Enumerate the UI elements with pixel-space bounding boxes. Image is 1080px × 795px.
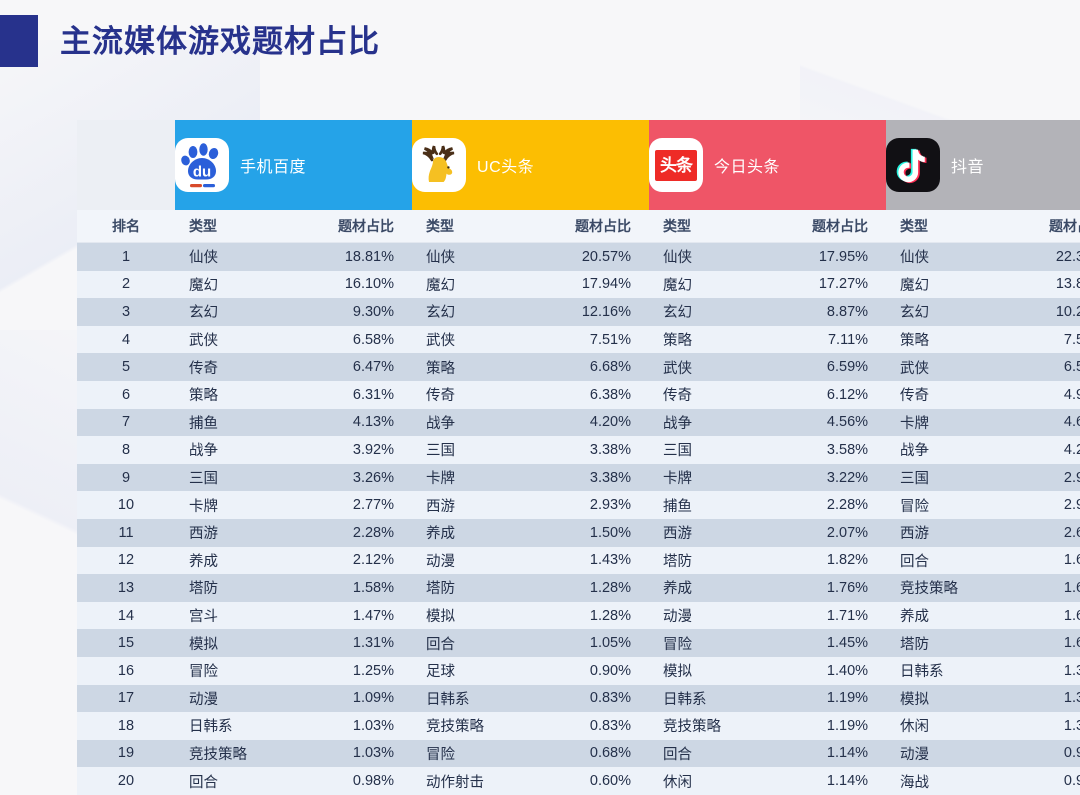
cell-pct-0: 1.31% xyxy=(285,629,412,657)
cell-type-0: 塔防 xyxy=(175,574,285,602)
cell-pct-0: 2.28% xyxy=(285,519,412,547)
cell-rank: 3 xyxy=(77,298,175,326)
cell-pct-3: 1.64% xyxy=(996,574,1080,602)
cell-type-1: 三国 xyxy=(412,436,522,464)
table-row: 9三国3.26%卡牌3.38%卡牌3.22%三国2.96% xyxy=(77,464,1080,492)
cell-pct-0: 6.47% xyxy=(285,353,412,381)
cell-pct-2: 1.82% xyxy=(759,547,886,575)
cell-pct-3: 6.58% xyxy=(996,353,1080,381)
cell-pct-3: 1.32% xyxy=(996,685,1080,713)
cell-type-2: 魔幻 xyxy=(649,271,759,299)
table-row: 5传奇6.47%策略6.68%武侠6.59%武侠6.58% xyxy=(77,353,1080,381)
cell-pct-1: 0.90% xyxy=(522,657,649,685)
cell-rank: 19 xyxy=(77,740,175,768)
cell-type-0: 模拟 xyxy=(175,629,285,657)
cell-pct-3: 1.32% xyxy=(996,712,1080,740)
cell-pct-3: 1.64% xyxy=(996,547,1080,575)
table-row: 6策略6.31%传奇6.38%传奇6.12%传奇4.93% xyxy=(77,381,1080,409)
cell-type-2: 竞技策略 xyxy=(649,712,759,740)
cell-pct-2: 8.87% xyxy=(759,298,886,326)
cell-type-3: 冒险 xyxy=(886,491,996,519)
cell-pct-0: 16.10% xyxy=(285,271,412,299)
cell-pct-1: 0.83% xyxy=(522,685,649,713)
cell-type-1: 日韩系 xyxy=(412,685,522,713)
cell-pct-0: 3.92% xyxy=(285,436,412,464)
cell-rank: 1 xyxy=(77,243,175,271)
cell-pct-3: 7.57% xyxy=(996,326,1080,354)
cell-pct-2: 1.71% xyxy=(759,602,886,630)
cell-pct-2: 6.12% xyxy=(759,381,886,409)
cell-type-3: 西游 xyxy=(886,519,996,547)
platform-header-1: UC头条 xyxy=(412,120,649,210)
cell-pct-2: 4.56% xyxy=(759,409,886,437)
cell-pct-0: 18.81% xyxy=(285,243,412,271)
cell-pct-1: 1.05% xyxy=(522,629,649,657)
cell-rank: 14 xyxy=(77,602,175,630)
cell-pct-2: 1.14% xyxy=(759,767,886,795)
cell-type-2: 养成 xyxy=(649,574,759,602)
cell-rank: 12 xyxy=(77,547,175,575)
cell-type-0: 养成 xyxy=(175,547,285,575)
cell-pct-0: 3.26% xyxy=(285,464,412,492)
cell-type-0: 卡牌 xyxy=(175,491,285,519)
cell-type-3: 战争 xyxy=(886,436,996,464)
cell-pct-2: 1.14% xyxy=(759,740,886,768)
table-row: 11西游2.28%养成1.50%西游2.07%西游2.63% xyxy=(77,519,1080,547)
cell-rank: 16 xyxy=(77,657,175,685)
cell-pct-0: 1.09% xyxy=(285,685,412,713)
cell-pct-1: 7.51% xyxy=(522,326,649,354)
cell-pct-1: 1.28% xyxy=(522,602,649,630)
brand-header-row: du手机百度UC头条头条今日头条抖音 xyxy=(77,120,1080,210)
cell-pct-1: 0.60% xyxy=(522,767,649,795)
platform-name-label: 今日头条 xyxy=(714,153,780,177)
cell-type-2: 卡牌 xyxy=(649,464,759,492)
cell-type-0: 策略 xyxy=(175,381,285,409)
cell-type-3: 动漫 xyxy=(886,740,996,768)
cell-pct-3: 2.96% xyxy=(996,464,1080,492)
table-row: 16冒险1.25%足球0.90%模拟1.40%日韩系1.32% xyxy=(77,657,1080,685)
cell-type-1: 模拟 xyxy=(412,602,522,630)
table-row: 18日韩系1.03%竞技策略0.83%竞技策略1.19%休闲1.32% xyxy=(77,712,1080,740)
cell-pct-0: 1.47% xyxy=(285,602,412,630)
cell-rank: 18 xyxy=(77,712,175,740)
cell-pct-0: 6.58% xyxy=(285,326,412,354)
cell-type-0: 西游 xyxy=(175,519,285,547)
cell-pct-2: 3.58% xyxy=(759,436,886,464)
cell-type-1: 武侠 xyxy=(412,326,522,354)
cell-rank: 7 xyxy=(77,409,175,437)
table-row: 14宫斗1.47%模拟1.28%动漫1.71%养成1.64% xyxy=(77,602,1080,630)
cell-pct-0: 1.25% xyxy=(285,657,412,685)
cell-type-3: 模拟 xyxy=(886,685,996,713)
cell-pct-3: 0.99% xyxy=(996,767,1080,795)
column-header-pct-1: 题材占比 xyxy=(522,210,649,243)
cell-type-0: 日韩系 xyxy=(175,712,285,740)
toutiao-icon: 头条 xyxy=(649,138,703,192)
rank-header-blank xyxy=(77,120,175,210)
platform-name-label: 抖音 xyxy=(951,153,984,177)
cell-rank: 5 xyxy=(77,353,175,381)
cell-type-0: 传奇 xyxy=(175,353,285,381)
cell-pct-3: 1.32% xyxy=(996,657,1080,685)
cell-pct-3: 4.93% xyxy=(996,381,1080,409)
cell-pct-3: 4.61% xyxy=(996,409,1080,437)
cell-type-3: 策略 xyxy=(886,326,996,354)
column-header-pct-0: 题材占比 xyxy=(285,210,412,243)
column-header-type-2: 类型 xyxy=(649,210,759,243)
cell-rank: 15 xyxy=(77,629,175,657)
cell-type-2: 策略 xyxy=(649,326,759,354)
cell-pct-1: 0.68% xyxy=(522,740,649,768)
cell-type-1: 玄幻 xyxy=(412,298,522,326)
platform-header-2: 头条今日头条 xyxy=(649,120,886,210)
cell-type-2: 武侠 xyxy=(649,353,759,381)
douyin-note-icon xyxy=(886,138,940,192)
cell-type-2: 日韩系 xyxy=(649,685,759,713)
cell-pct-1: 1.50% xyxy=(522,519,649,547)
cell-type-3: 传奇 xyxy=(886,381,996,409)
cell-pct-3: 13.82% xyxy=(996,271,1080,299)
cell-type-1: 动漫 xyxy=(412,547,522,575)
ranking-table-container: du手机百度UC头条头条今日头条抖音排名类型题材占比类型题材占比类型题材占比类型… xyxy=(77,120,1023,795)
cell-type-1: 战争 xyxy=(412,409,522,437)
cell-pct-0: 4.13% xyxy=(285,409,412,437)
cell-pct-0: 1.03% xyxy=(285,712,412,740)
cell-type-2: 传奇 xyxy=(649,381,759,409)
cell-rank: 13 xyxy=(77,574,175,602)
cell-type-1: 策略 xyxy=(412,353,522,381)
cell-type-0: 三国 xyxy=(175,464,285,492)
cell-type-3: 养成 xyxy=(886,602,996,630)
cell-type-1: 魔幻 xyxy=(412,271,522,299)
cell-pct-2: 17.95% xyxy=(759,243,886,271)
cell-pct-3: 2.96% xyxy=(996,491,1080,519)
column-header-pct-2: 题材占比 xyxy=(759,210,886,243)
cell-type-2: 塔防 xyxy=(649,547,759,575)
cell-type-3: 三国 xyxy=(886,464,996,492)
cell-type-2: 动漫 xyxy=(649,602,759,630)
column-header-type-1: 类型 xyxy=(412,210,522,243)
cell-type-1: 足球 xyxy=(412,657,522,685)
svg-text:du: du xyxy=(193,164,211,181)
cell-type-0: 魔幻 xyxy=(175,271,285,299)
cell-pct-0: 6.31% xyxy=(285,381,412,409)
table-row: 8战争3.92%三国3.38%三国3.58%战争4.28% xyxy=(77,436,1080,464)
cell-type-3: 日韩系 xyxy=(886,657,996,685)
cell-type-1: 养成 xyxy=(412,519,522,547)
cell-type-0: 捕鱼 xyxy=(175,409,285,437)
cell-type-1: 竞技策略 xyxy=(412,712,522,740)
cell-pct-2: 1.76% xyxy=(759,574,886,602)
cell-pct-2: 6.59% xyxy=(759,353,886,381)
cell-pct-2: 2.07% xyxy=(759,519,886,547)
cell-rank: 6 xyxy=(77,381,175,409)
cell-type-3: 玄幻 xyxy=(886,298,996,326)
cell-pct-1: 17.94% xyxy=(522,271,649,299)
cell-type-3: 魔幻 xyxy=(886,271,996,299)
cell-rank: 2 xyxy=(77,271,175,299)
table-row: 1仙侠18.81%仙侠20.57%仙侠17.95%仙侠22.37% xyxy=(77,243,1080,271)
page-title-row: 主流媒体游戏题材占比 xyxy=(0,12,380,70)
table-row: 12养成2.12%动漫1.43%塔防1.82%回合1.64% xyxy=(77,547,1080,575)
cell-pct-1: 4.20% xyxy=(522,409,649,437)
column-header-rank: 排名 xyxy=(77,210,175,243)
cell-pct-2: 17.27% xyxy=(759,271,886,299)
table-row: 10卡牌2.77%西游2.93%捕鱼2.28%冒险2.96% xyxy=(77,491,1080,519)
table-row: 13塔防1.58%塔防1.28%养成1.76%竞技策略1.64% xyxy=(77,574,1080,602)
cell-pct-2: 3.22% xyxy=(759,464,886,492)
cell-type-0: 动漫 xyxy=(175,685,285,713)
ranking-table: du手机百度UC头条头条今日头条抖音排名类型题材占比类型题材占比类型题材占比类型… xyxy=(77,120,1080,795)
baidu-paw-icon: du xyxy=(175,138,229,192)
cell-pct-1: 2.93% xyxy=(522,491,649,519)
cell-pct-2: 1.19% xyxy=(759,685,886,713)
cell-type-2: 玄幻 xyxy=(649,298,759,326)
cell-pct-0: 1.58% xyxy=(285,574,412,602)
platform-header-3: 抖音 xyxy=(886,120,1080,210)
cell-type-3: 休闲 xyxy=(886,712,996,740)
column-header-row: 排名类型题材占比类型题材占比类型题材占比类型题材占比 xyxy=(77,210,1080,243)
cell-type-1: 仙侠 xyxy=(412,243,522,271)
cell-type-0: 宫斗 xyxy=(175,602,285,630)
platform-name-label: UC头条 xyxy=(477,153,534,177)
column-header-pct-3: 题材占比 xyxy=(996,210,1080,243)
column-header-type-3: 类型 xyxy=(886,210,996,243)
cell-pct-2: 1.19% xyxy=(759,712,886,740)
cell-type-2: 西游 xyxy=(649,519,759,547)
cell-pct-3: 22.37% xyxy=(996,243,1080,271)
cell-type-0: 战争 xyxy=(175,436,285,464)
cell-pct-3: 10.20% xyxy=(996,298,1080,326)
cell-pct-2: 1.40% xyxy=(759,657,886,685)
cell-type-0: 竞技策略 xyxy=(175,740,285,768)
table-row: 15模拟1.31%回合1.05%冒险1.45%塔防1.64% xyxy=(77,629,1080,657)
cell-type-0: 冒险 xyxy=(175,657,285,685)
cell-pct-0: 0.98% xyxy=(285,767,412,795)
cell-pct-1: 12.16% xyxy=(522,298,649,326)
page-title: 主流媒体游戏题材占比 xyxy=(60,26,380,57)
table-row: 2魔幻16.10%魔幻17.94%魔幻17.27%魔幻13.82% xyxy=(77,271,1080,299)
cell-type-1: 塔防 xyxy=(412,574,522,602)
cell-rank: 8 xyxy=(77,436,175,464)
cell-type-2: 休闲 xyxy=(649,767,759,795)
cell-type-0: 回合 xyxy=(175,767,285,795)
cell-type-2: 仙侠 xyxy=(649,243,759,271)
cell-pct-0: 9.30% xyxy=(285,298,412,326)
cell-type-3: 武侠 xyxy=(886,353,996,381)
cell-pct-1: 3.38% xyxy=(522,436,649,464)
cell-rank: 10 xyxy=(77,491,175,519)
cell-type-0: 武侠 xyxy=(175,326,285,354)
cell-type-2: 冒险 xyxy=(649,629,759,657)
cell-pct-2: 1.45% xyxy=(759,629,886,657)
cell-type-1: 传奇 xyxy=(412,381,522,409)
table-row: 19竞技策略1.03%冒险0.68%回合1.14%动漫0.99% xyxy=(77,740,1080,768)
cell-pct-0: 1.03% xyxy=(285,740,412,768)
cell-type-0: 玄幻 xyxy=(175,298,285,326)
table-row: 20回合0.98%动作射击0.60%休闲1.14%海战0.99% xyxy=(77,767,1080,795)
cell-pct-1: 3.38% xyxy=(522,464,649,492)
cell-type-2: 回合 xyxy=(649,740,759,768)
cell-pct-1: 1.28% xyxy=(522,574,649,602)
table-row: 4武侠6.58%武侠7.51%策略7.11%策略7.57% xyxy=(77,326,1080,354)
cell-rank: 17 xyxy=(77,685,175,713)
cell-pct-1: 6.38% xyxy=(522,381,649,409)
table-row: 7捕鱼4.13%战争4.20%战争4.56%卡牌4.61% xyxy=(77,409,1080,437)
cell-pct-3: 2.63% xyxy=(996,519,1080,547)
cell-type-1: 冒险 xyxy=(412,740,522,768)
cell-pct-2: 7.11% xyxy=(759,326,886,354)
cell-type-3: 竞技策略 xyxy=(886,574,996,602)
cell-pct-3: 0.99% xyxy=(996,740,1080,768)
cell-type-3: 仙侠 xyxy=(886,243,996,271)
cell-type-2: 模拟 xyxy=(649,657,759,685)
cell-pct-1: 6.68% xyxy=(522,353,649,381)
cell-pct-0: 2.77% xyxy=(285,491,412,519)
platform-name-label: 手机百度 xyxy=(240,153,306,177)
cell-pct-3: 1.64% xyxy=(996,629,1080,657)
cell-rank: 11 xyxy=(77,519,175,547)
cell-type-1: 西游 xyxy=(412,491,522,519)
cell-pct-3: 1.64% xyxy=(996,602,1080,630)
cell-pct-1: 20.57% xyxy=(522,243,649,271)
cell-pct-3: 4.28% xyxy=(996,436,1080,464)
cell-type-2: 三国 xyxy=(649,436,759,464)
cell-rank: 9 xyxy=(77,464,175,492)
title-accent-bar xyxy=(0,15,38,67)
cell-type-0: 仙侠 xyxy=(175,243,285,271)
cell-pct-1: 0.83% xyxy=(522,712,649,740)
cell-type-1: 动作射击 xyxy=(412,767,522,795)
cell-pct-1: 1.43% xyxy=(522,547,649,575)
table-row: 17动漫1.09%日韩系0.83%日韩系1.19%模拟1.32% xyxy=(77,685,1080,713)
cell-type-1: 回合 xyxy=(412,629,522,657)
cell-type-2: 战争 xyxy=(649,409,759,437)
cell-type-3: 海战 xyxy=(886,767,996,795)
cell-rank: 4 xyxy=(77,326,175,354)
cell-pct-2: 2.28% xyxy=(759,491,886,519)
uc-deer-icon xyxy=(412,138,466,192)
cell-type-3: 回合 xyxy=(886,547,996,575)
cell-pct-0: 2.12% xyxy=(285,547,412,575)
cell-type-1: 卡牌 xyxy=(412,464,522,492)
table-row: 3玄幻9.30%玄幻12.16%玄幻8.87%玄幻10.20% xyxy=(77,298,1080,326)
column-header-type-0: 类型 xyxy=(175,210,285,243)
cell-type-3: 塔防 xyxy=(886,629,996,657)
platform-header-0: du手机百度 xyxy=(175,120,412,210)
cell-type-3: 卡牌 xyxy=(886,409,996,437)
cell-type-2: 捕鱼 xyxy=(649,491,759,519)
cell-rank: 20 xyxy=(77,767,175,795)
